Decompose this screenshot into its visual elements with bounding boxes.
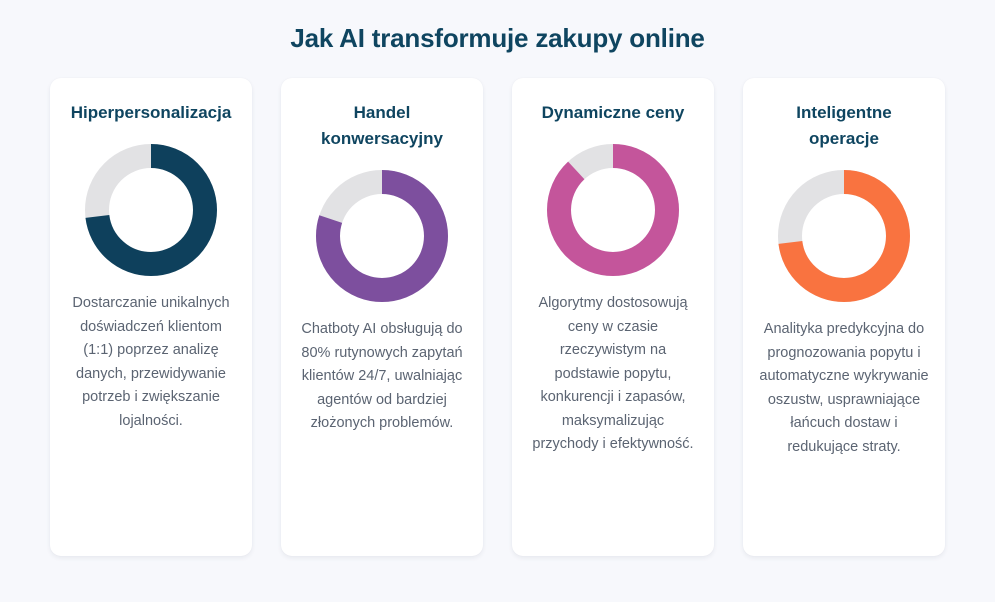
card-description: Algorytmy dostosowują ceny w czasie rzec… (528, 292, 698, 457)
cards-row: Hiperpersonalizacja Dostarczanie unikaln… (0, 54, 995, 556)
donut-chart-container-3 (776, 168, 912, 304)
donut-chart-container-2 (545, 142, 681, 278)
card-dynamiczne-ceny: Dynamiczne ceny Algorytmy dostosowują ce… (512, 78, 714, 556)
hiperpersonalizacja-donut (83, 142, 219, 278)
page-title: Jak AI transformuje zakupy online (0, 0, 995, 54)
donut-chart-container-0 (83, 142, 219, 278)
card-title: Hiperpersonalizacja (71, 100, 232, 126)
card-title: Dynamiczne ceny (542, 100, 685, 126)
card-title: Inteligentne operacje (759, 100, 929, 152)
card-hiperpersonalizacja: Hiperpersonalizacja Dostarczanie unikaln… (50, 78, 252, 556)
card-description: Dostarczanie unikalnych doświadczeń klie… (66, 292, 236, 433)
card-inteligentne-operacje: Inteligentne operacje Analityka predykcy… (743, 78, 945, 556)
donut-value-arc (559, 156, 667, 264)
card-description: Analityka predykcyjna do prognozowania p… (759, 318, 929, 459)
card-handel-konwersacyjny: Handel konwersacyjny Chatboty AI obsługu… (281, 78, 483, 556)
infographic-page: Jak AI transformuje zakupy online Hiperp… (0, 0, 995, 602)
handel-konwersacyjny-donut (314, 168, 450, 304)
donut-chart-container-1 (314, 168, 450, 304)
inteligentne-operacje-donut (776, 168, 912, 304)
card-description: Chatboty AI obsługują do 80% rutynowych … (297, 318, 467, 436)
dynamiczne-ceny-donut (545, 142, 681, 278)
card-title: Handel konwersacyjny (297, 100, 467, 152)
